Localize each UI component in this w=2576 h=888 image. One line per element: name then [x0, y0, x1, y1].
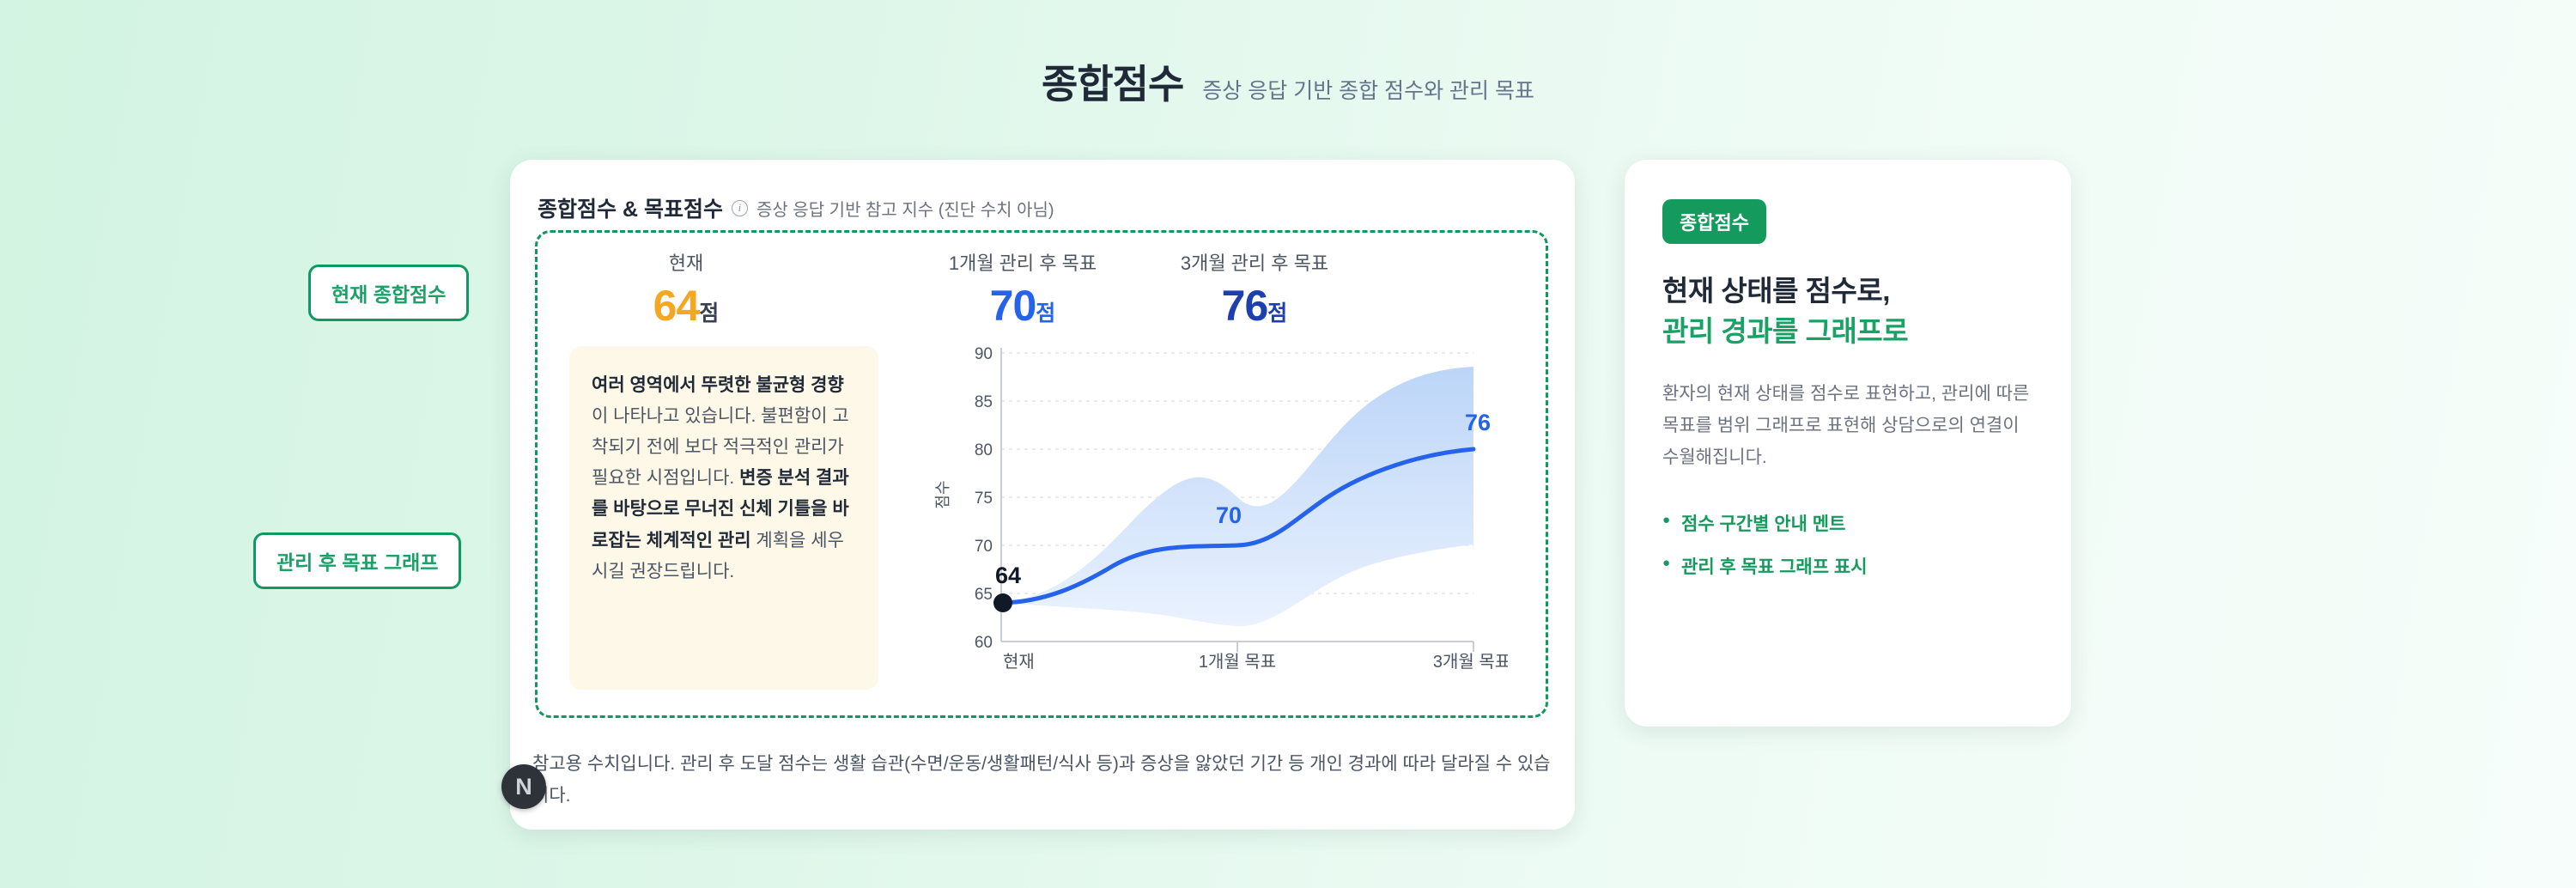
feature-heading-line2: 관리 경과를 그래프로: [1662, 312, 2033, 352]
chart-x-tick-current: 현재: [1003, 652, 1035, 672]
interpretation-note: 여러 영역에서 뚜렷한 불균형 경향이 나타나고 있습니다. 불편함이 고착되기…: [569, 346, 878, 690]
chart-y-tick-85: 85: [975, 393, 993, 411]
info-icon[interactable]: i: [732, 200, 748, 216]
score-value-month3: 76: [1222, 282, 1268, 330]
page-title: 종합점수: [1042, 53, 1183, 110]
feature-info-card: 종합점수 현재 상태를 점수로, 관리 경과를 그래프로 환자의 현재 상태를 …: [1625, 160, 2071, 727]
score-summary-row: 현재 64점 1개월 관리 후 목표 70점 3개월 관리 후 목표 76점: [538, 248, 1551, 350]
page-header: 종합점수 증상 응답 기반 종합 점수와 관리 목표: [0, 53, 2576, 110]
score-unit-current: 점: [699, 301, 719, 325]
score-value-current: 64: [653, 282, 700, 330]
score-label-month1: 1개월 관리 후 목표: [898, 248, 1147, 276]
score-label-month3: 3개월 관리 후 목표: [1130, 248, 1379, 276]
score-column-month1: 1개월 관리 후 목표 70점: [898, 248, 1147, 331]
target-score-chart: 90 85 80 75 70 65 60 점수: [907, 336, 1508, 692]
chart-y-tick-90: 90: [975, 345, 993, 363]
chart-y-tick-65: 65: [975, 586, 993, 604]
page-subtitle: 증상 응답 기반 종합 점수와 관리 목표: [1202, 74, 1534, 105]
score-label-current: 현재: [562, 248, 811, 276]
chart-x-tick-month1: 1개월 목표: [1199, 652, 1276, 672]
feature-badge: 종합점수: [1662, 199, 1766, 244]
score-card-title: 종합점수 & 목표점수: [538, 192, 723, 223]
chart-y-axis-label: 점수: [934, 480, 951, 508]
chart-x-tick-labels: 현재 1개월 목표 3개월 목표: [1003, 652, 1508, 672]
feature-heading-line1: 현재 상태를 점수로,: [1662, 271, 2033, 312]
chart-current-point-marker: [993, 593, 1012, 612]
chart-label-current: 64: [995, 563, 1021, 588]
chart-label-month3: 76: [1465, 410, 1491, 435]
score-column-month3: 3개월 관리 후 목표 76점: [1130, 248, 1379, 331]
chart-y-tick-75: 75: [975, 490, 993, 508]
score-card-header: 종합점수 & 목표점수 i 증상 응답 기반 참고 지수 (진단 수치 아님): [538, 192, 1054, 223]
feature-description: 환자의 현재 상태를 점수로 표현하고, 관리에 따른 목표를 범위 그래프로 …: [1662, 378, 2033, 474]
note-bold-1: 여러 영역에서 뚜렷한 불균형 경향: [592, 375, 844, 395]
score-card: 종합점수 & 목표점수 i 증상 응답 기반 참고 지수 (진단 수치 아님) …: [510, 160, 1575, 830]
chart-svg: 90 85 80 75 70 65 60 점수: [907, 336, 1508, 692]
annotation-pill-current-score[interactable]: 현재 종합점수: [308, 265, 469, 321]
chart-y-tick-labels: 90 85 80 75 70 65 60: [975, 345, 993, 652]
feature-bullet-item: 관리 후 목표 그래프 표시: [1662, 553, 2033, 579]
feature-bullet-item: 점수 구간별 안내 멘트: [1662, 510, 2033, 536]
n-badge-icon[interactable]: N: [501, 764, 546, 809]
score-card-note: 증상 응답 기반 참고 지수 (진단 수치 아님): [756, 196, 1054, 221]
annotation-pill-target-graph[interactable]: 관리 후 목표 그래프: [253, 532, 461, 589]
screen-root: 종합점수 증상 응답 기반 종합 점수와 관리 목표 현재 종합점수 관리 후 …: [0, 0, 2576, 888]
chart-y-tick-60: 60: [975, 634, 993, 652]
chart-label-month1: 70: [1216, 502, 1242, 528]
score-unit-month1: 점: [1036, 301, 1055, 325]
score-unit-month3: 점: [1267, 301, 1287, 325]
highlight-region: 현재 64점 1개월 관리 후 목표 70점 3개월 관리 후 목표 76점: [535, 230, 1548, 718]
score-card-footnote: 참고용 수치입니다. 관리 후 도달 점수는 생활 습관(수면/운동/생활패턴/…: [532, 749, 1563, 812]
score-value-month1: 70: [990, 282, 1036, 330]
feature-heading: 현재 상태를 점수로, 관리 경과를 그래프로: [1662, 271, 2033, 352]
feature-bullet-list: 점수 구간별 안내 멘트 관리 후 목표 그래프 표시: [1662, 510, 2033, 579]
chart-y-tick-80: 80: [975, 441, 993, 459]
score-column-current: 현재 64점: [562, 248, 811, 331]
chart-x-tick-month3: 3개월 목표: [1433, 652, 1508, 672]
chart-y-tick-70: 70: [975, 538, 993, 556]
